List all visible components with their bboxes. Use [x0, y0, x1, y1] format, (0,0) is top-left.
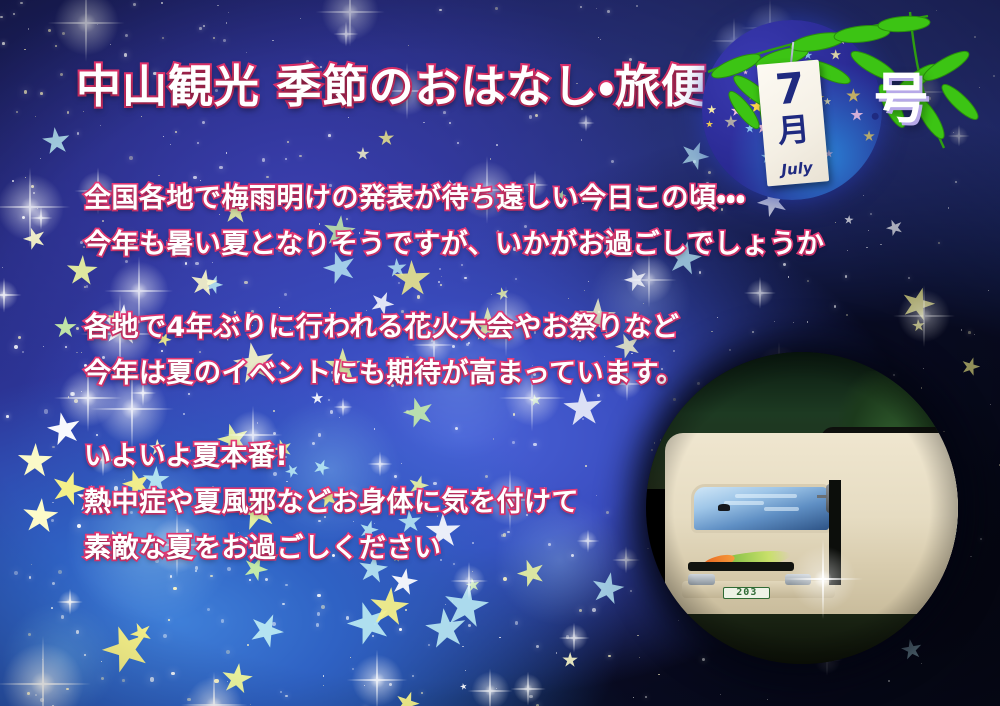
photo-edge-darkening — [646, 352, 958, 664]
newsletter-poster: 中山観光 季節のおはなし・旅便り — [0, 0, 1000, 706]
paragraph-2-line-1: 各地で4年ぶりに行われる花火大会やお祭りなど — [84, 305, 679, 344]
bus-photo: 203 — [646, 352, 958, 664]
paragraph-3-line-3: 素敵な夏をお過ごしください — [84, 526, 442, 565]
badge-month-kanji: 月 — [761, 111, 826, 148]
badge-issue-suffix: 号 — [874, 54, 928, 133]
page-title: 中山観光 季節のおはなし・旅便り — [76, 50, 753, 115]
badge-month-english: July — [765, 157, 828, 180]
paragraph-1-line-1: 全国各地で梅雨明けの発表が待ち遠しい今日この頃・・・ — [84, 176, 746, 215]
paragraph-1-line-2: 今年も暑い夏となりそうですが、いかがお過ごしでしょうか — [84, 222, 824, 261]
paragraph-3-line-2: 熱中症や夏風邪などお身体に気を付けて — [84, 480, 579, 519]
tanzaku-strip: 7 月 July — [757, 60, 829, 187]
paragraph-3-line-1: いよいよ夏本番! — [84, 434, 288, 473]
paragraph-2-line-2: 今年は夏のイベントにも期待が高まっています。 — [84, 351, 684, 390]
badge-month-number: 7 — [757, 66, 822, 113]
